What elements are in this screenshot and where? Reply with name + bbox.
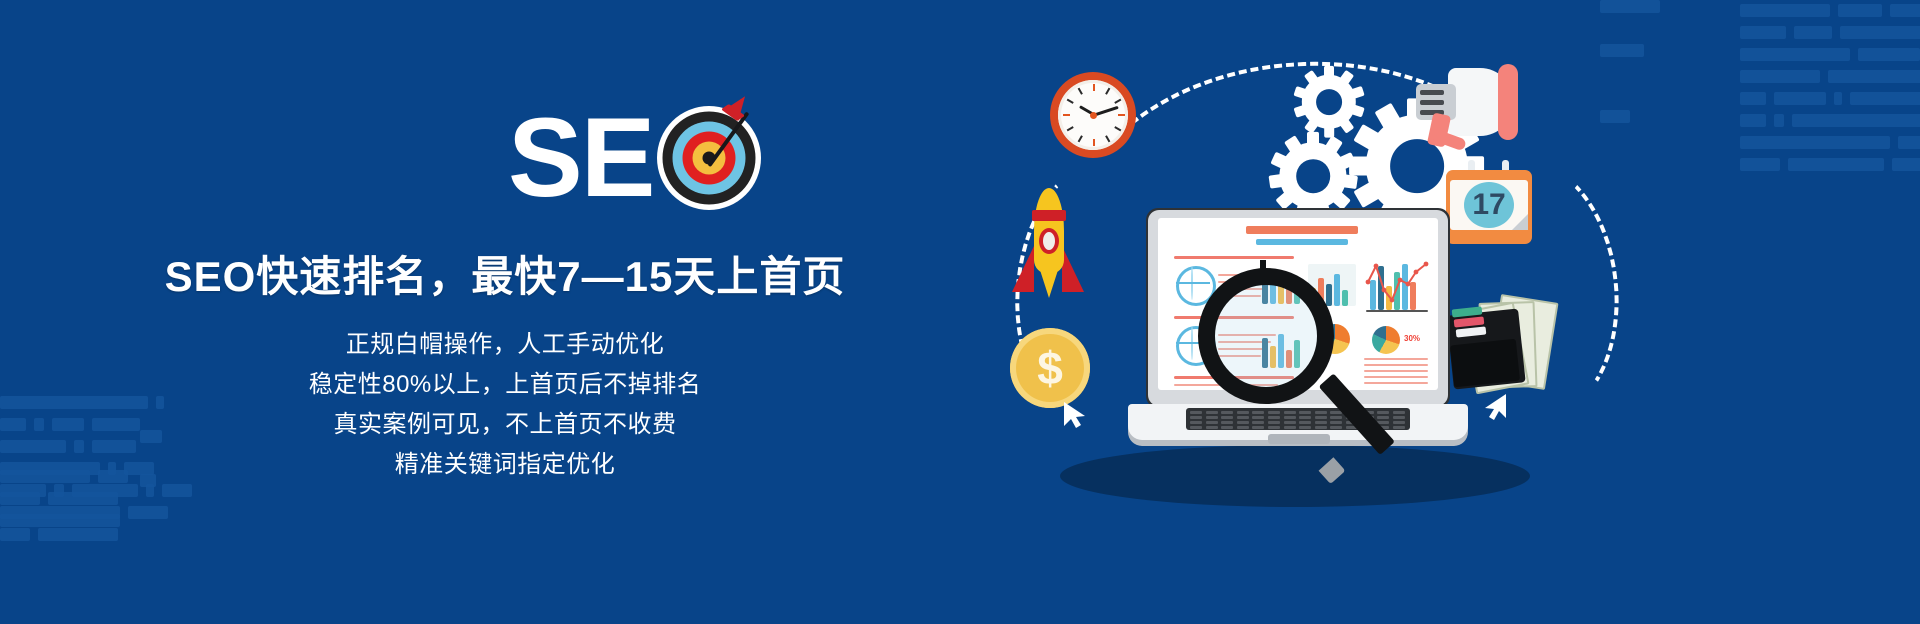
list-item: 真实案例可见，不上首页不收费 bbox=[0, 405, 1010, 445]
clock-icon bbox=[1050, 72, 1136, 158]
calendar-day-number: 17 bbox=[1464, 186, 1514, 224]
text-column: SE SEO快速排名，最快7—15天上首页 正规白帽操作，人工手动优化 稳定性8… bbox=[0, 0, 1010, 624]
list-item: 精准关键词指定优化 bbox=[0, 445, 1010, 485]
pie-percent-label: 30% bbox=[1404, 334, 1420, 343]
feature-list: 正规白帽操作，人工手动优化 稳定性80%以上，上首页后不掉排名 真实案例可见，不… bbox=[0, 325, 1010, 485]
list-item: 稳定性80%以上，上首页后不掉排名 bbox=[0, 365, 1010, 405]
rocket-icon bbox=[1012, 188, 1084, 300]
page-title: SEO快速排名，最快7—15天上首页 bbox=[0, 243, 1010, 304]
list-item: 正规白帽操作，人工手动优化 bbox=[0, 325, 1010, 365]
cursor-arrow-right-icon bbox=[1482, 392, 1508, 422]
seo-promo-banner: SE SEO快速排名，最快7—15天上首页 正规白帽操作，人工手动优化 稳定性8… bbox=[0, 0, 1920, 624]
bullseye-target-icon bbox=[657, 106, 761, 210]
magnifying-glass bbox=[1198, 268, 1348, 418]
cursor-arrow-left-icon bbox=[1062, 400, 1088, 430]
seo-illustration: $ 17 $ bbox=[1010, 40, 1630, 540]
dollar-symbol: $ bbox=[1037, 345, 1063, 391]
logo-letters: SE bbox=[508, 108, 653, 208]
wallet-money-icon: $ bbox=[1450, 292, 1570, 392]
seo-logo: SE bbox=[508, 100, 761, 216]
dollar-coin-icon: $ bbox=[1010, 328, 1090, 408]
megaphone-icon bbox=[1408, 62, 1524, 148]
